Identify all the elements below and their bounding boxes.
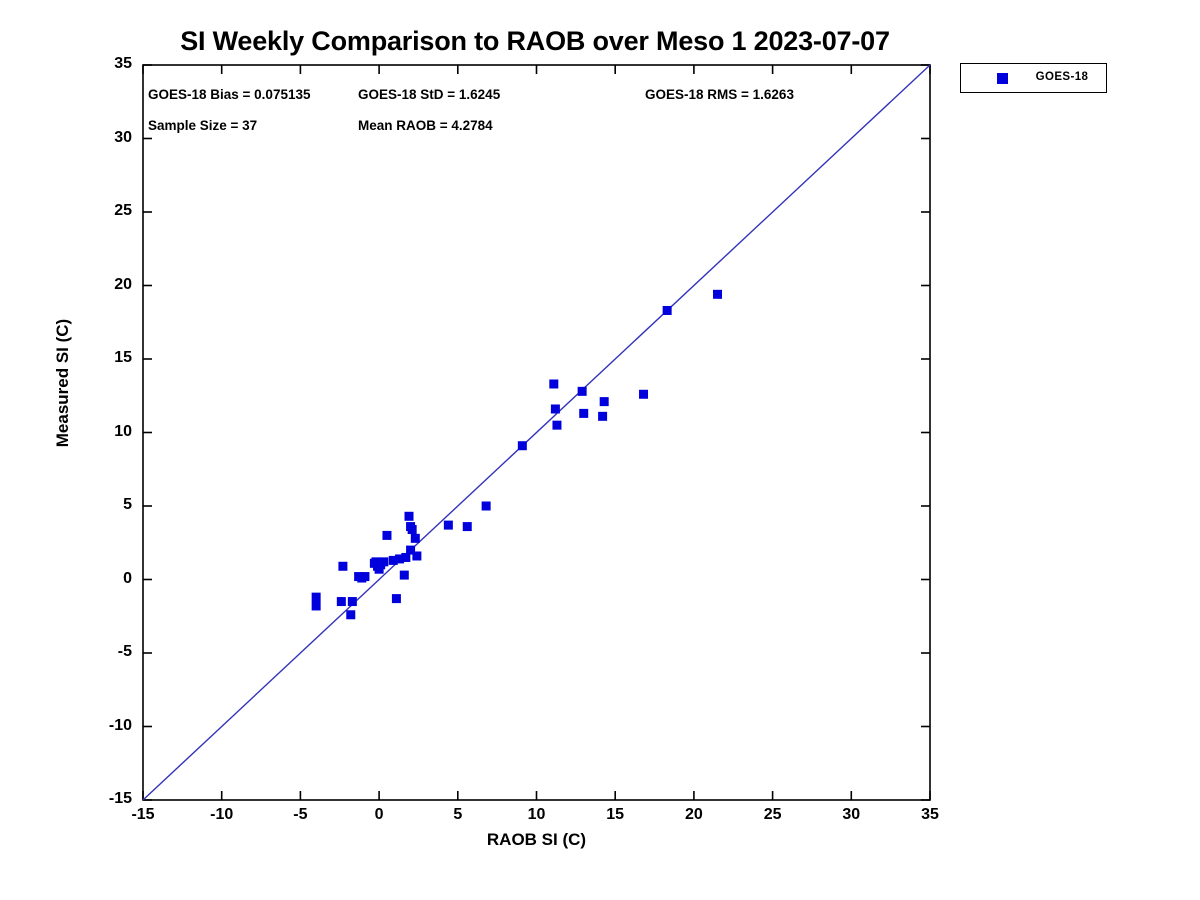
data-point (312, 601, 321, 610)
chart-figure: SI Weekly Comparison to RAOB over Meso 1… (0, 0, 1200, 900)
x-tick-label: 35 (900, 806, 960, 824)
data-point (444, 521, 453, 530)
data-point (379, 557, 388, 566)
data-point (600, 397, 609, 406)
y-tick-label: -10 (78, 717, 132, 735)
data-point (482, 502, 491, 511)
legend[interactable]: GOES-18 (960, 63, 1107, 93)
data-point (338, 562, 347, 571)
y-tick-label: 15 (78, 349, 132, 367)
x-tick-label: 10 (507, 806, 567, 824)
y-tick-label: 25 (78, 202, 132, 220)
x-tick-label: -10 (192, 806, 252, 824)
data-point (549, 379, 558, 388)
data-point (578, 387, 587, 396)
y-tick-label: -15 (78, 790, 132, 808)
one-to-one-reference-line (143, 65, 930, 800)
legend-label-goes-18: GOES-18 (1023, 71, 1101, 83)
data-point (639, 390, 648, 399)
y-axis-label: Measured SI (C) (53, 273, 73, 493)
data-point (411, 534, 420, 543)
y-tick-label: -5 (78, 643, 132, 661)
data-point (412, 551, 421, 560)
legend-marker-goes-18 (997, 73, 1008, 84)
y-tick-label: 0 (78, 570, 132, 588)
x-axis-label: RAOB SI (C) (143, 830, 930, 850)
x-tick-label: 25 (743, 806, 803, 824)
data-point (405, 512, 414, 521)
data-point (382, 531, 391, 540)
data-point (400, 571, 409, 580)
x-tick-label: 30 (821, 806, 881, 824)
data-point (392, 594, 401, 603)
data-point (663, 306, 672, 315)
data-point (713, 290, 722, 299)
scatter-plot-canvas (0, 0, 1200, 900)
data-point (408, 525, 417, 534)
y-tick-label: 10 (78, 423, 132, 441)
data-point-group (312, 290, 722, 619)
x-tick-label: -5 (270, 806, 330, 824)
y-tick-label: 5 (78, 496, 132, 514)
data-point (579, 409, 588, 418)
x-tick-label: 5 (428, 806, 488, 824)
y-tick-label: 35 (78, 55, 132, 73)
data-point (346, 610, 355, 619)
data-point (518, 441, 527, 450)
x-tick-label: 15 (585, 806, 645, 824)
x-tick-label: 20 (664, 806, 724, 824)
data-point (312, 593, 321, 602)
data-point (360, 572, 369, 581)
x-tick-label: 0 (349, 806, 409, 824)
y-tick-label: 30 (78, 129, 132, 147)
data-point (552, 421, 561, 430)
data-point (551, 404, 560, 413)
data-point (598, 412, 607, 421)
x-tick-label: -15 (113, 806, 173, 824)
data-point (463, 522, 472, 531)
y-tick-label: 20 (78, 276, 132, 294)
data-point (348, 597, 357, 606)
data-point (337, 597, 346, 606)
